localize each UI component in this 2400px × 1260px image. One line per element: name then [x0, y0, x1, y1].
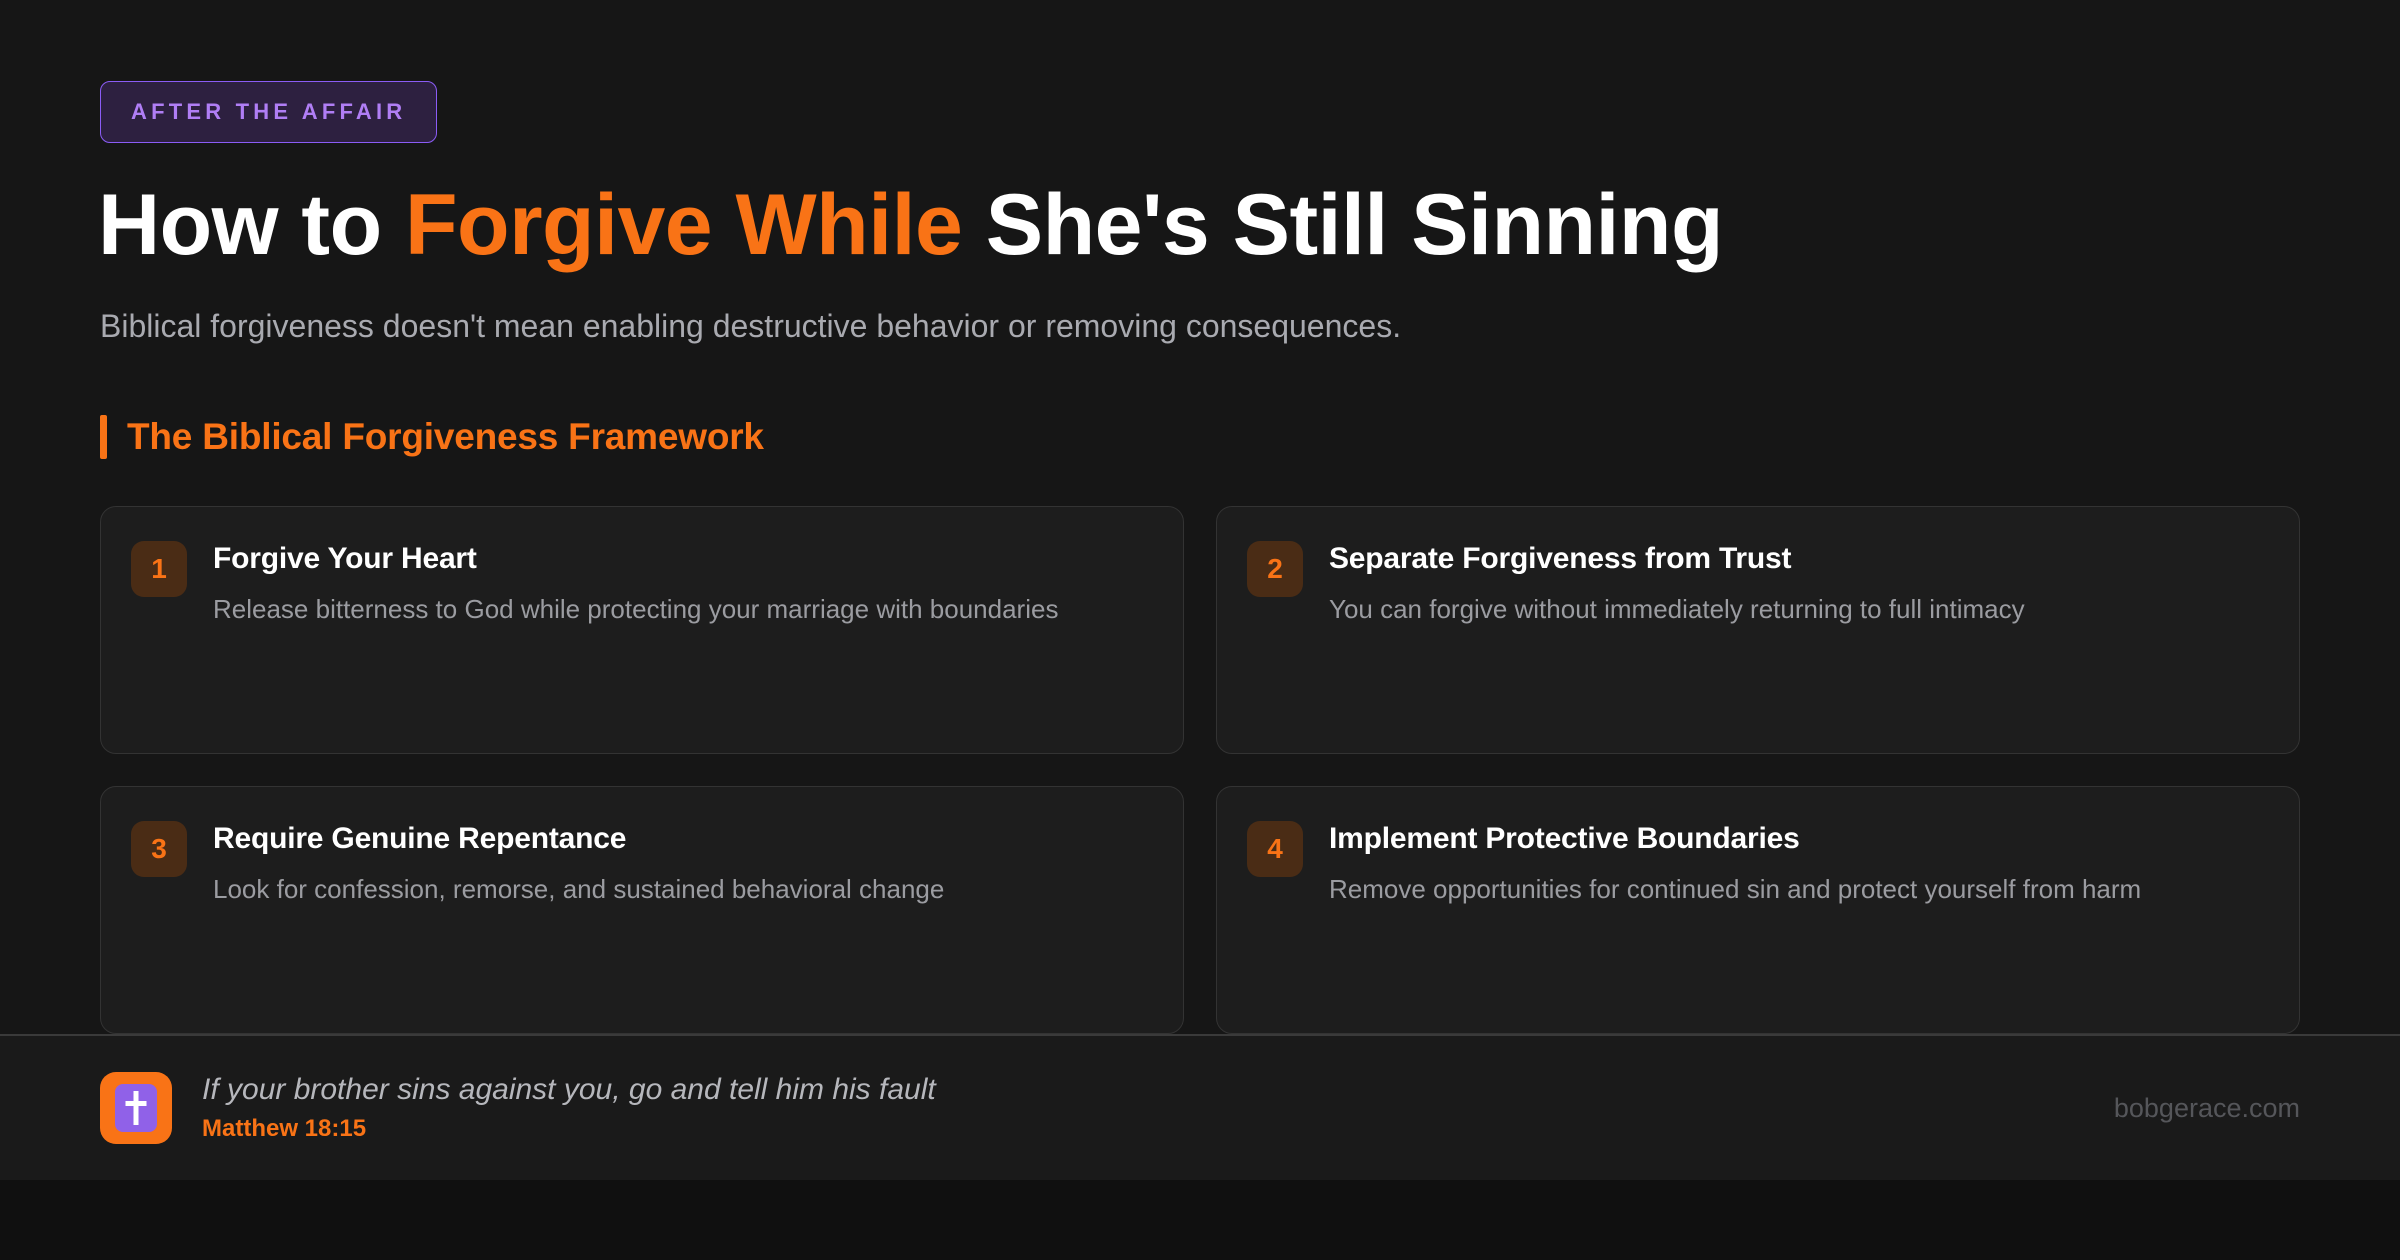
card-body: Require Genuine Repentance Look for conf…: [213, 819, 1147, 908]
footer: If your brother sins against you, go and…: [0, 1036, 2400, 1180]
framework-card[interactable]: 1 Forgive Your Heart Release bitterness …: [100, 506, 1184, 754]
section-title: The Biblical Forgiveness Framework: [127, 416, 764, 458]
framework-card[interactable]: 3 Require Genuine Repentance Look for co…: [100, 786, 1184, 1034]
category-badge: AFTER THE AFFAIR: [100, 81, 437, 143]
section-header: The Biblical Forgiveness Framework: [100, 415, 764, 459]
card-description: You can forgive without immediately retu…: [1329, 591, 2263, 628]
card-body: Separate Forgiveness from Trust You can …: [1329, 539, 2263, 628]
scripture-quote-block: If your brother sins against you, go and…: [100, 1072, 936, 1144]
quote-text-wrap: If your brother sins against you, go and…: [202, 1072, 936, 1144]
headline-accent: Forgive While: [405, 177, 962, 273]
card-number-badge: 4: [1247, 821, 1303, 877]
card-title: Implement Protective Boundaries: [1329, 821, 2263, 857]
page-subtitle: Biblical forgiveness doesn't mean enabli…: [100, 306, 1401, 348]
card-description: Look for confession, remorse, and sustai…: [213, 871, 1147, 908]
card-title: Require Genuine Repentance: [213, 821, 1147, 857]
card-title: Forgive Your Heart: [213, 541, 1147, 577]
scripture-reference: Matthew 18:15: [202, 1115, 936, 1144]
slide-root: AFTER THE AFFAIR How to Forgive While Sh…: [0, 0, 2400, 1260]
page-title: How to Forgive While She's Still Sinning: [98, 180, 1723, 271]
cross-icon: [100, 1072, 172, 1144]
card-number-badge: 3: [131, 821, 187, 877]
card-description: Release bitterness to God while protecti…: [213, 591, 1147, 628]
footer-inner: If your brother sins against you, go and…: [100, 1036, 2300, 1180]
cross-icon-glyph: [115, 1084, 157, 1132]
site-url: bobgerace.com: [2114, 1093, 2300, 1124]
framework-card[interactable]: 2 Separate Forgiveness from Trust You ca…: [1216, 506, 2300, 754]
card-description: Remove opportunities for continued sin a…: [1329, 871, 2263, 908]
headline-part-2: She's Still Sinning: [962, 177, 1723, 273]
card-number-badge: 1: [131, 541, 187, 597]
headline-part-1: How to: [98, 177, 405, 273]
card-number-badge: 2: [1247, 541, 1303, 597]
scripture-quote-text: If your brother sins against you, go and…: [202, 1072, 936, 1108]
card-body: Implement Protective Boundaries Remove o…: [1329, 819, 2263, 908]
card-body: Forgive Your Heart Release bitterness to…: [213, 539, 1147, 628]
section-accent-bar: [100, 415, 107, 459]
bottom-band: [0, 1180, 2400, 1260]
framework-card-grid: 1 Forgive Your Heart Release bitterness …: [100, 506, 2300, 1034]
card-title: Separate Forgiveness from Trust: [1329, 541, 2263, 577]
framework-card[interactable]: 4 Implement Protective Boundaries Remove…: [1216, 786, 2300, 1034]
category-badge-label: AFTER THE AFFAIR: [131, 99, 406, 125]
